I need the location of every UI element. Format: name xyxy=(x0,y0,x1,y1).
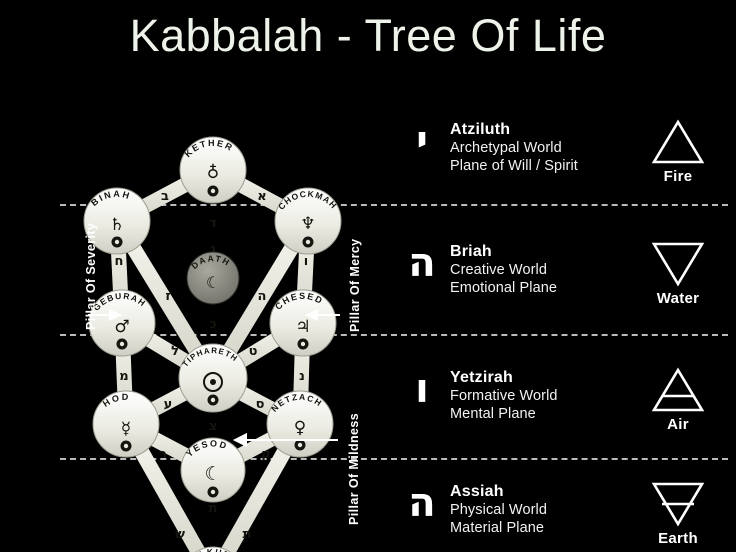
hebrew-letter-he-icon: ה xyxy=(398,240,446,286)
svg-text:א: א xyxy=(257,189,266,204)
svg-text:ו: ו xyxy=(304,254,308,269)
world-line1-briah: Creative World xyxy=(450,261,620,279)
world-name-assiah: Assiah xyxy=(450,482,620,501)
world-name-yetzirah: Yetzirah xyxy=(450,368,620,387)
pillar-label-severity: Pillar Of Severity xyxy=(84,223,98,330)
svg-text:☾: ☾ xyxy=(204,463,221,485)
element-label-water: Water xyxy=(623,290,733,307)
svg-text:צ: צ xyxy=(209,419,218,434)
sephirah-kether: KETHER ♁ xyxy=(180,137,246,203)
sephirah-tiphareth: TIPHARETH xyxy=(179,344,247,412)
tree-of-life-diagram: ב א ד ג ח ו ז ה כ ל ט מ נ ע ס צ פ ר ק ת … xyxy=(0,60,380,552)
svg-text:ת: ת xyxy=(209,501,218,516)
world-line2-assiah: Material Plane xyxy=(450,519,620,537)
svg-text:ק: ק xyxy=(261,447,271,462)
earth-triangle-icon xyxy=(650,480,706,528)
svg-text:ד: ד xyxy=(209,216,217,231)
sephirah-chockmah: CHOCKMAH ♆ xyxy=(275,188,341,254)
svg-text:ע: ע xyxy=(164,397,173,412)
svg-text:☿: ☿ xyxy=(121,419,131,439)
world-line2-yetzirah: Mental Plane xyxy=(450,405,620,423)
sephirah-chesed: CHESED ♃ xyxy=(270,290,336,356)
svg-text:ט: ט xyxy=(249,344,258,359)
water-triangle-icon xyxy=(650,240,706,288)
sephirah-hod: HOD ☿ xyxy=(93,391,159,457)
svg-text:ת: ת xyxy=(243,527,252,542)
svg-text:ר: ר xyxy=(159,447,167,462)
page-title: Kabbalah - Tree Of Life xyxy=(0,10,736,62)
svg-text:ס: ס xyxy=(256,397,265,412)
sephirah-daath: DAATH ☾ xyxy=(187,252,239,304)
kabbalah-tree-of-life-poster: Kabbalah - Tree Of Life xyxy=(0,0,736,552)
svg-text:נ: נ xyxy=(299,369,305,384)
pillar-label-mildness: Pillar Of Mildness xyxy=(347,413,361,525)
svg-text:ב: ב xyxy=(161,189,169,204)
world-line1-yetzirah: Formative World xyxy=(450,387,620,405)
pillar-label-mercy: Pillar Of Mercy xyxy=(348,238,362,332)
svg-text:☾: ☾ xyxy=(206,273,220,292)
hebrew-letter-he-final-icon: ה xyxy=(398,480,446,526)
svg-text:כ: כ xyxy=(209,317,216,332)
svg-text:♄: ♄ xyxy=(109,215,124,235)
hebrew-letter-yod-icon: י xyxy=(398,118,446,164)
element-label-earth: Earth xyxy=(623,530,733,547)
svg-text:ה: ה xyxy=(258,289,267,304)
world-line1-assiah: Physical World xyxy=(450,501,620,519)
fire-triangle-icon xyxy=(650,118,706,166)
world-name-atziluth: Atziluth xyxy=(450,120,620,139)
svg-text:ל: ל xyxy=(171,344,179,359)
svg-text:♀: ♀ xyxy=(294,418,306,438)
svg-text:♂: ♂ xyxy=(114,317,129,337)
svg-text:ח: ח xyxy=(115,254,124,269)
sephirah-yesod: YESOD ☾ xyxy=(181,438,245,502)
world-name-briah: Briah xyxy=(450,242,620,261)
world-line1-atziluth: Archetypal World xyxy=(450,139,620,157)
svg-text:♃: ♃ xyxy=(295,317,310,337)
element-label-fire: Fire xyxy=(623,168,733,185)
world-line2-briah: Emotional Plane xyxy=(450,279,620,297)
element-label-air: Air xyxy=(623,416,733,433)
sephirah-netzach: NETZACH ♀ xyxy=(267,391,333,457)
svg-text:♁: ♁ xyxy=(207,163,219,183)
svg-text:ש: ש xyxy=(175,527,185,542)
svg-text:מ: מ xyxy=(119,369,128,384)
svg-text:ז: ז xyxy=(165,289,170,304)
air-triangle-icon xyxy=(650,366,706,414)
hebrew-letter-vav-icon: ו xyxy=(398,366,446,412)
world-line2-atziluth: Plane of Will / Spirit xyxy=(450,157,620,175)
sephirah-geburah: GEBURAH ♂ xyxy=(89,290,155,356)
svg-text:♆: ♆ xyxy=(300,214,315,234)
